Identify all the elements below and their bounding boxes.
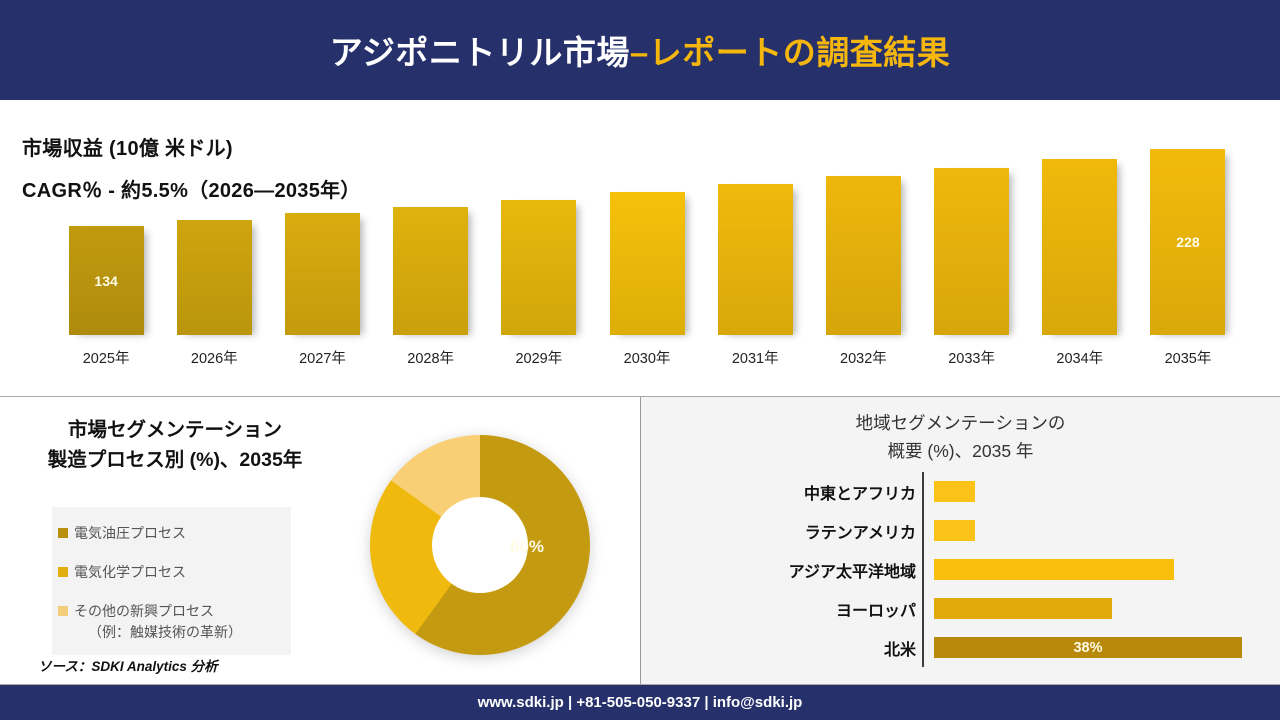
bar-2026年 — [177, 220, 252, 335]
regional-bar-ヨーロッパ — [934, 598, 1112, 619]
bar-column: 228 — [1134, 144, 1242, 335]
legend-item: 電気化学プロセス — [58, 562, 283, 583]
regional-row: 北米38% — [641, 628, 1280, 667]
donut-chart: 60% — [345, 417, 625, 667]
legend-swatch-icon — [58, 567, 68, 577]
x-axis-label: 2028年 — [377, 347, 485, 368]
page-title-accent: –レポートの調査結果 — [630, 34, 950, 71]
bar-chart-x-axis-labels: 2025年2026年2027年2028年2029年2030年2031年2032年… — [52, 347, 1242, 368]
x-axis-label: 2027年 — [268, 347, 376, 368]
segmentation-legend: 電気油圧プロセス電気化学プロセスその他の新興プロセス（例：触媒技術の革新） — [52, 507, 291, 655]
regional-row-label: ヨーロッパ — [641, 597, 926, 621]
bar-column — [485, 144, 593, 335]
bar-column — [701, 144, 809, 335]
bar-column — [160, 144, 268, 335]
bar-value-label: 228 — [1150, 234, 1225, 250]
x-axis-label: 2033年 — [918, 347, 1026, 368]
regional-bar-ラテンアメリカ — [934, 520, 975, 541]
legend-label: その他の新興プロセス（例：触媒技術の革新） — [74, 601, 242, 643]
bar-column — [268, 144, 376, 335]
regional-row: アジア太平洋地域 — [641, 550, 1280, 589]
donut-value-label: 60% — [510, 537, 544, 557]
regional-title-line1: 地域セグメンテーションの — [641, 409, 1280, 437]
x-axis-label: 2035年 — [1134, 347, 1242, 368]
bar-2031年 — [718, 184, 793, 335]
bar-column — [1026, 144, 1134, 335]
legend-label: 電気油圧プロセス — [74, 523, 186, 544]
regional-row-label: 北米 — [641, 636, 926, 660]
regional-row: ラテンアメリカ — [641, 511, 1280, 550]
footer-band: www.sdki.jp | +81-505-050-9337 | info@sd… — [0, 685, 1280, 720]
bar-2033年 — [934, 168, 1009, 335]
bar-2028年 — [393, 207, 468, 335]
regional-row-label: ラテンアメリカ — [641, 519, 926, 543]
page-title-main: アジポニトリル市場 — [330, 34, 630, 71]
bar-series: 134228 — [52, 144, 1242, 335]
bar-2035年: 228 — [1150, 149, 1225, 335]
market-revenue-bar-chart: 134228 — [0, 140, 1280, 335]
segmentation-title: 市場セグメンテーション 製造プロセス別 (%)、2035年 — [20, 415, 330, 475]
segmentation-panel: 市場セグメンテーション 製造プロセス別 (%)、2035年 電気油圧プロセス電気… — [0, 397, 640, 684]
bar-2034年 — [1042, 159, 1117, 335]
x-axis-label: 2034年 — [1026, 347, 1134, 368]
x-axis-label: 2025年 — [52, 347, 160, 368]
regional-row-label: アジア太平洋地域 — [641, 558, 926, 582]
regional-title-line2: 概要 (%)、2035 年 — [641, 437, 1280, 465]
regional-row: 中東とアフリカ — [641, 472, 1280, 511]
x-axis-label: 2032年 — [809, 347, 917, 368]
legend-swatch-icon — [58, 528, 68, 538]
x-axis-label: 2031年 — [701, 347, 809, 368]
regional-bar-北米: 38% — [934, 637, 1242, 658]
page-title: アジポニトリル市場–レポートの調査結果 — [330, 26, 951, 74]
regional-title: 地域セグメンテーションの 概要 (%)、2035 年 — [641, 409, 1280, 465]
legend-swatch-icon — [58, 606, 68, 616]
regional-bar-value-label: 38% — [934, 640, 1242, 656]
x-axis-label: 2026年 — [160, 347, 268, 368]
regional-bar-chart: 中東とアフリカラテンアメリカアジア太平洋地域ヨーロッパ北米38% — [641, 472, 1280, 667]
source-note: ソース：SDKI Analytics 分析 — [38, 655, 218, 675]
bar-2027年 — [285, 213, 360, 335]
bar-value-label: 134 — [69, 273, 144, 289]
bar-2025年: 134 — [69, 226, 144, 335]
infographic-page: アジポニトリル市場–レポートの調査結果 市場収益 (10億 米ドル) CAGR％… — [0, 0, 1280, 720]
segmentation-title-line1: 市場セグメンテーション — [20, 415, 330, 445]
legend-item: その他の新興プロセス（例：触媒技術の革新） — [58, 601, 283, 643]
footer-contact: www.sdki.jp | +81-505-050-9337 | info@sd… — [478, 694, 803, 711]
x-axis-label: 2029年 — [485, 347, 593, 368]
bar-2032年 — [826, 176, 901, 335]
x-axis-label: 2030年 — [593, 347, 701, 368]
regional-bar-アジア太平洋地域 — [934, 559, 1174, 580]
regional-panel: 地域セグメンテーションの 概要 (%)、2035 年 中東とアフリカラテンアメリ… — [641, 397, 1280, 684]
legend-label: 電気化学プロセス — [74, 562, 186, 583]
bar-column: 134 — [52, 144, 160, 335]
segmentation-title-line2: 製造プロセス別 (%)、2035年 — [20, 445, 330, 475]
bar-column — [377, 144, 485, 335]
header-band: アジポニトリル市場–レポートの調査結果 — [0, 0, 1280, 100]
bar-2029年 — [501, 200, 576, 335]
regional-row-label: 中東とアフリカ — [641, 480, 926, 504]
regional-row: ヨーロッパ — [641, 589, 1280, 628]
bar-column — [809, 144, 917, 335]
bar-column — [918, 144, 1026, 335]
bar-2030年 — [610, 192, 685, 335]
legend-item: 電気油圧プロセス — [58, 523, 283, 544]
donut-hole — [370, 435, 590, 655]
regional-bar-中東とアフリカ — [934, 481, 975, 502]
legend-sublabel: （例：触媒技術の革新） — [74, 622, 242, 643]
bar-column — [593, 144, 701, 335]
